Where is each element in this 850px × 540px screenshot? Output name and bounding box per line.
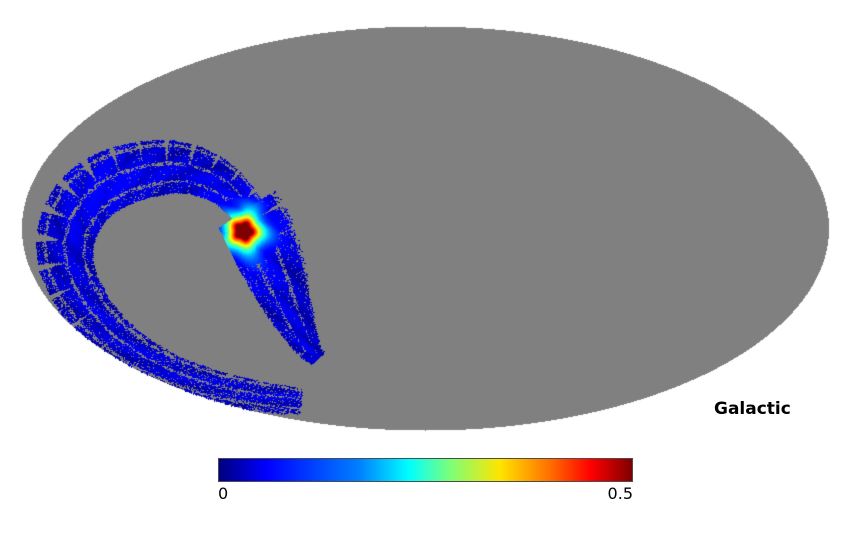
colorbar: 0 0.5	[218, 458, 633, 482]
sky-map-figure: I Stokes Galactic 0 0.5	[0, 0, 850, 540]
colorbar-tick-min: 0	[218, 484, 228, 503]
coordinate-system-label: Galactic	[714, 399, 791, 419]
colorbar-tick-max: 0.5	[608, 484, 633, 503]
colorbar-gradient	[218, 458, 633, 482]
